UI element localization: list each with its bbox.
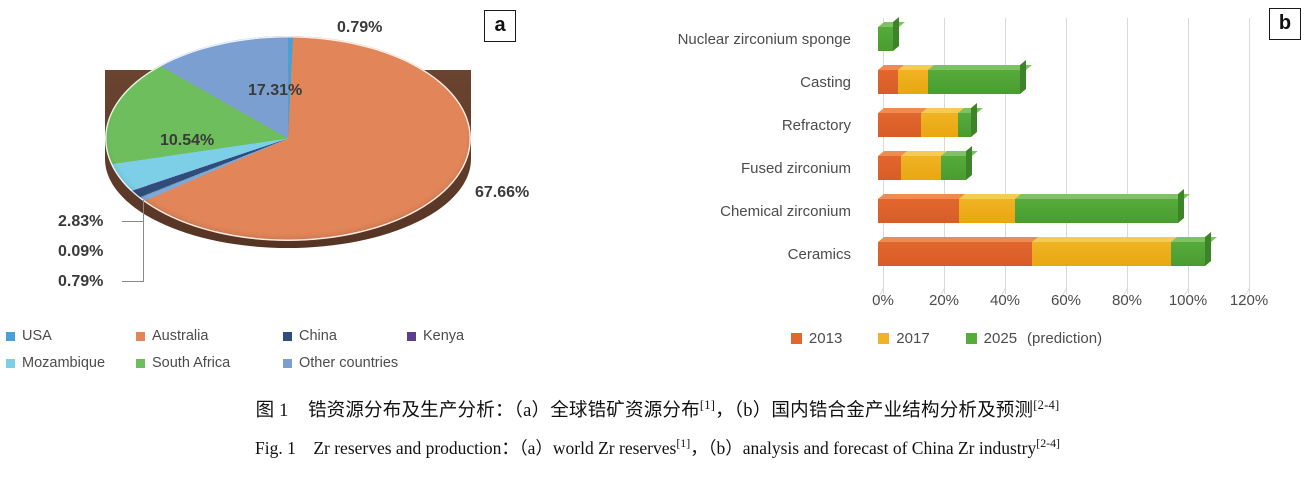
x-tick-80: 80% [1112, 292, 1142, 309]
legend-label-australia: Australia [152, 328, 208, 344]
pie-legend-row-1: USA Australia China Kenya [6, 328, 546, 344]
legend-item-kenya[interactable]: Kenya [407, 328, 497, 344]
bar-segment-2025[interactable] [928, 70, 1020, 94]
legend-label-mozambique: Mozambique [22, 355, 105, 371]
bar-category-label-casting: Casting [560, 61, 860, 104]
pie-legend: USA Australia China Kenya Moza [6, 328, 546, 382]
legend-swatch-australia [136, 332, 145, 341]
legend-label-usa: USA [22, 328, 52, 344]
bar-category-label-nuclear-zirconium-sponge: Nuclear zirconium sponge [560, 18, 860, 61]
bar-segment-2013[interactable] [878, 113, 921, 137]
bar-segment-2017[interactable] [1032, 242, 1171, 266]
x-tick-120: 120% [1230, 292, 1268, 309]
bar-endface [893, 17, 899, 51]
pie-label-australia: 67.66% [475, 184, 529, 202]
bar-endface [1020, 60, 1026, 94]
bar-refractory[interactable] [878, 113, 971, 137]
bar-topface [941, 151, 978, 156]
bar-legend-swatch-2013 [791, 333, 802, 344]
bar-category-label-chemical-zirconium: Chemical zirconium [560, 190, 860, 233]
bar-row-chemical-zirconium [883, 190, 1283, 233]
legend-swatch-other-countries [283, 359, 292, 368]
x-tick-0: 0% [872, 292, 894, 309]
bar-category-labels: Nuclear zirconium sponge Casting Refract… [560, 18, 860, 276]
bar-category-label-fused-zirconium: Fused zirconium [560, 147, 860, 190]
bar-row-ceramics [883, 233, 1283, 276]
legend-label-china: China [299, 328, 337, 344]
bar-topface [1015, 194, 1190, 199]
bar-segment-2013[interactable] [878, 70, 898, 94]
pie-label-kenya: 0.09% [58, 243, 103, 261]
bar-chemical-zirconium[interactable] [878, 199, 1178, 223]
leader-line-china [122, 281, 144, 282]
pie-label-china: 0.79% [58, 273, 103, 291]
x-tick-20: 20% [929, 292, 959, 309]
bar-legend: 2013 2017 2025 (prediction) [560, 330, 1315, 347]
bar-legend-item-2025[interactable]: 2025 [966, 330, 1017, 347]
legend-item-australia[interactable]: Australia [136, 328, 283, 344]
bar-topface [1032, 237, 1183, 242]
bar-legend-label-2017: 2017 [896, 330, 929, 347]
legend-item-china[interactable]: China [283, 328, 407, 344]
bar-segment-2017[interactable] [901, 156, 941, 180]
bar-chart: Nuclear zirconium sponge Casting Refract… [560, 0, 1315, 300]
pie-label-usa: 0.79% [337, 19, 382, 37]
caption-chinese-mid: ，（b）国内锆合金产业结构分析及预测 [715, 401, 1033, 421]
figure-1: a 0.79% 17.31% 10.54% 67.66% 2.83% 0.09%… [0, 0, 1315, 488]
bar-segment-2017[interactable] [959, 199, 1015, 223]
panel-b-bar-chart: b Nuclear zirconium sponge Casting Refra… [560, 0, 1315, 392]
legend-item-usa[interactable]: USA [6, 328, 136, 344]
caption-english-text: Zr reserves and production：（a）world Zr r… [313, 438, 676, 458]
bar-legend-swatch-2017 [878, 333, 889, 344]
bar-category-label-ceramics: Ceramics [560, 233, 860, 276]
caption-chinese-ref-2: [2-4] [1033, 398, 1059, 412]
caption-english-ref-1: [1] [676, 436, 690, 450]
legend-label-kenya: Kenya [423, 328, 464, 344]
bar-endface [966, 146, 972, 180]
pie-chart: 0.79% 17.31% 10.54% 67.66% 2.83% 0.09% 0… [50, 14, 520, 304]
pie-label-south-africa: 10.54% [160, 132, 214, 150]
bar-plot-area [883, 18, 1283, 280]
legend-swatch-usa [6, 332, 15, 341]
bar-segment-2025[interactable] [958, 113, 971, 137]
bar-topface [878, 194, 971, 199]
bar-segment-2017[interactable] [898, 70, 928, 94]
bar-endface [1178, 189, 1184, 223]
legend-swatch-mozambique [6, 359, 15, 368]
bar-x-axis-ticks: 0% 20% 40% 60% 80% 100% 120% [883, 292, 1303, 314]
caption-chinese-prefix: 图 1 [256, 401, 289, 421]
legend-swatch-south-africa [136, 359, 145, 368]
bar-row-nuclear-zirconium-sponge [883, 18, 1283, 61]
bar-segment-2013[interactable] [878, 156, 901, 180]
panel-a-pie-chart: a 0.79% 17.31% 10.54% 67.66% 2.83% 0.09%… [0, 0, 560, 392]
caption-english-mid: ，（b）analysis and forecast of China Zr in… [690, 438, 1036, 458]
caption-english: Fig. 1 Zr reserves and production：（a）wor… [0, 435, 1315, 460]
pie-label-mozambique: 2.83% [58, 213, 103, 231]
figure-captions: 图 1 锆资源分布及生产分析：（a）全球锆矿资源分布[1]，（b）国内锆合金产业… [0, 396, 1315, 460]
bar-row-fused-zirconium [883, 147, 1283, 190]
bar-row-casting [883, 61, 1283, 104]
bar-segment-2013[interactable] [878, 242, 1032, 266]
x-tick-40: 40% [990, 292, 1020, 309]
bar-segment-2025[interactable] [1171, 242, 1205, 266]
legend-swatch-china [283, 332, 292, 341]
legend-swatch-kenya [407, 332, 416, 341]
leader-line-china-vert [143, 210, 144, 282]
caption-chinese: 图 1 锆资源分布及生产分析：（a）全球锆矿资源分布[1]，（b）国内锆合金产业… [0, 396, 1315, 422]
bar-segment-2025[interactable] [941, 156, 966, 180]
caption-chinese-text: 锆资源分布及生产分析：（a）全球锆矿资源分布 [308, 401, 700, 421]
bar-endface [1205, 232, 1211, 266]
x-tick-60: 60% [1051, 292, 1081, 309]
legend-item-south-africa[interactable]: South Africa [136, 355, 283, 371]
bar-topface [878, 22, 905, 27]
bar-row-refractory [883, 104, 1283, 147]
caption-english-prefix: Fig. 1 [255, 438, 296, 458]
legend-item-mozambique[interactable]: Mozambique [6, 355, 136, 371]
bar-legend-label-2025: 2025 [984, 330, 1017, 347]
bar-legend-item-2017[interactable]: 2017 [878, 330, 929, 347]
leader-line-mozambique [122, 221, 144, 222]
legend-label-other-countries: Other countries [299, 355, 398, 371]
bar-category-label-refractory: Refractory [560, 104, 860, 147]
bar-segment-2025[interactable] [1015, 199, 1178, 223]
bar-legend-note: (prediction) [1027, 330, 1102, 347]
pie-legend-row-2: Mozambique South Africa Other countries [6, 355, 546, 371]
bar-legend-label-2013: 2013 [809, 330, 842, 347]
bar-casting[interactable] [878, 70, 1020, 94]
bar-segment-2013[interactable] [878, 199, 959, 223]
pie-label-other-countries: 17.31% [248, 82, 302, 100]
bar-segment-2025[interactable] [878, 27, 893, 51]
bar-endface [971, 103, 977, 137]
bar-legend-item-2013[interactable]: 2013 [791, 330, 842, 347]
bar-legend-swatch-2025 [966, 333, 977, 344]
bar-topface [878, 237, 1044, 242]
caption-chinese-ref-1: [1] [700, 398, 715, 412]
legend-label-south-africa: South Africa [152, 355, 230, 371]
legend-item-other-countries[interactable]: Other countries [283, 355, 443, 371]
bar-segment-2017[interactable] [921, 113, 958, 137]
bar-nuclear-zirconium-sponge[interactable] [878, 27, 893, 51]
bar-ceramics[interactable] [878, 242, 1205, 266]
bar-fused-zirconium[interactable] [878, 156, 966, 180]
bar-topface [928, 65, 1032, 70]
x-tick-100: 100% [1169, 292, 1207, 309]
caption-english-ref-2: [2-4] [1036, 436, 1060, 450]
